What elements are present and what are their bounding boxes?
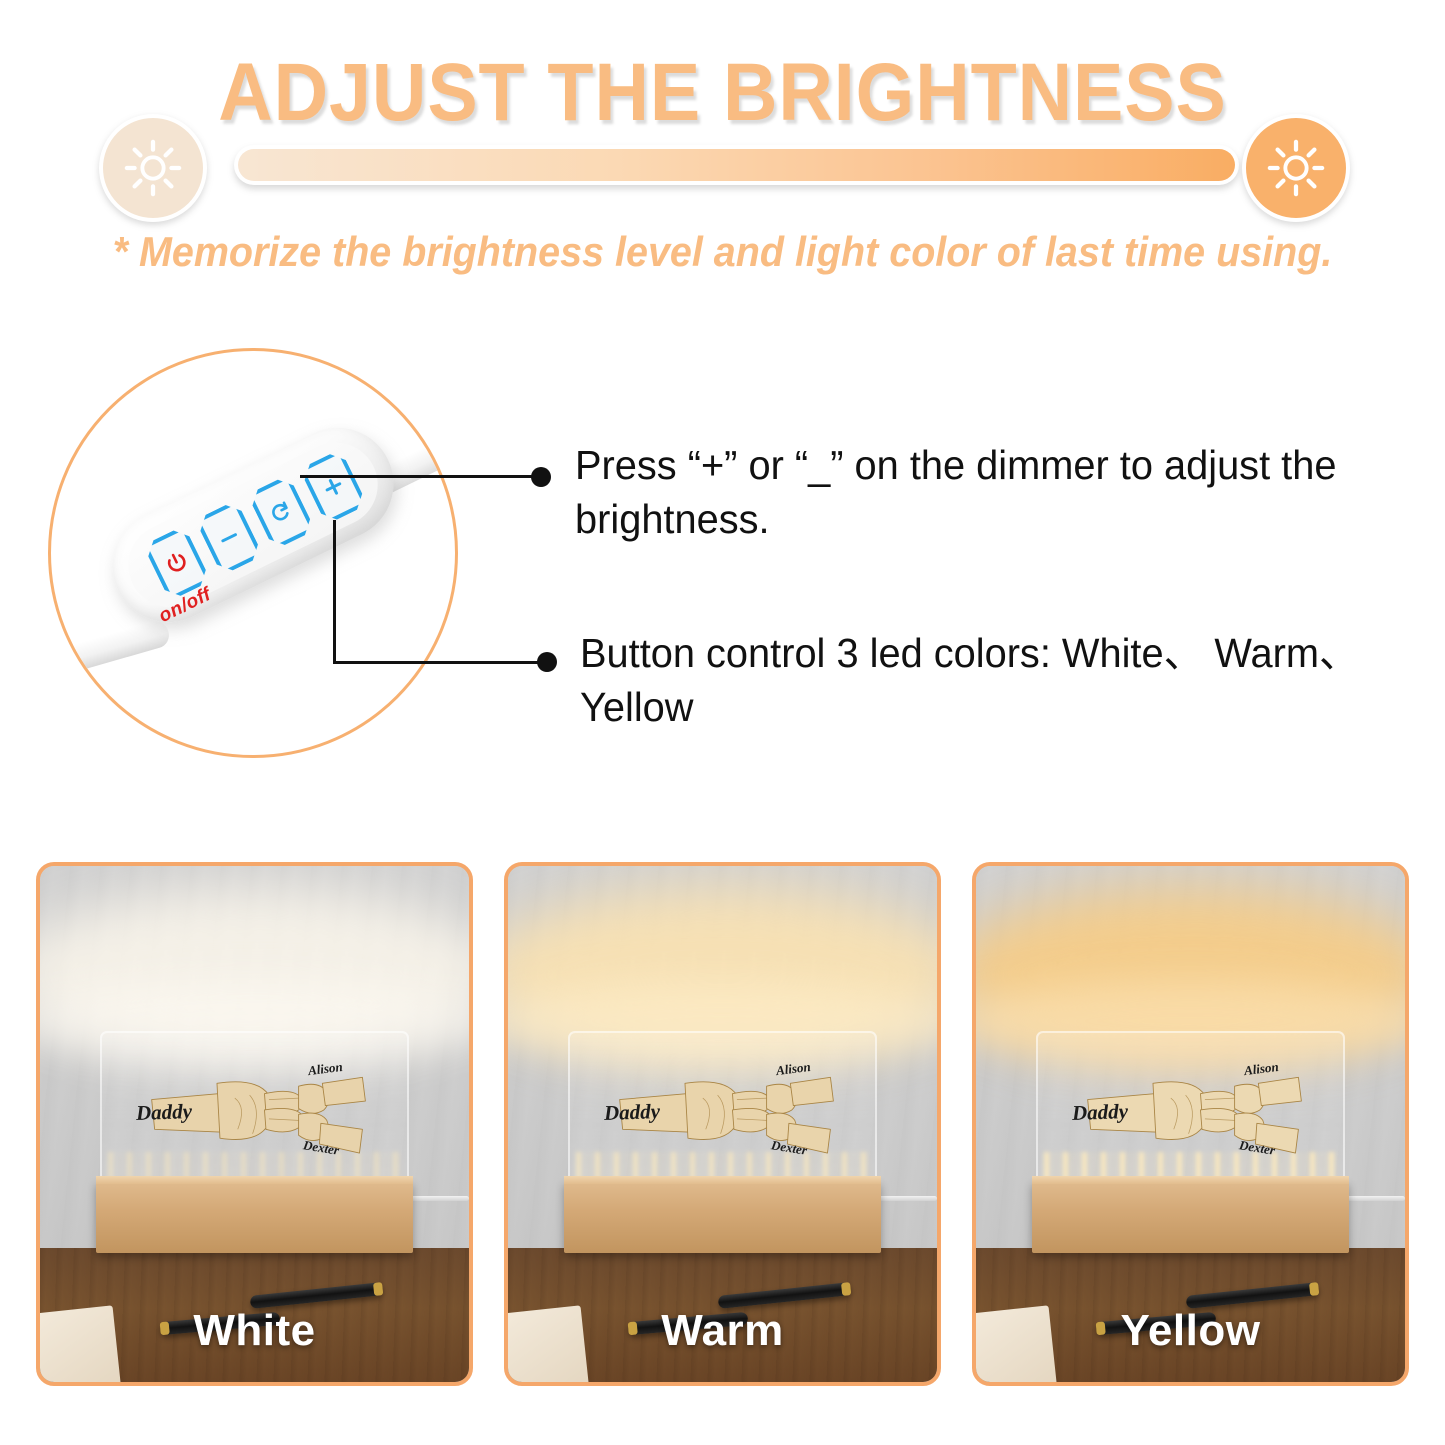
photo-card-yellow[interactable]: Daddy Alison Dexter Yellow [972,862,1409,1386]
header: ADJUST THE BRIGHTNESS [0,0,1445,300]
callout-brightness-text: Press “+” or “_” on the dimmer to adjust… [575,438,1351,546]
dimmer-controller: on/off [94,409,413,641]
power-cord [877,1196,937,1201]
dimmer-face: on/off [114,429,392,622]
color-cycle-button[interactable] [247,474,316,550]
minus-button[interactable] [195,500,264,576]
dimmer-cable-input [48,618,172,683]
power-icon [148,531,206,596]
color-mode-cards: Daddy Alison Dexter White [0,862,1445,1390]
sun-bright-icon [1242,114,1350,222]
card-label-yellow: Yellow [976,1306,1405,1356]
wooden-led-base [1032,1181,1349,1253]
brightness-slider[interactable] [234,145,1239,185]
wooden-led-base [564,1181,881,1253]
power-cord [1345,1196,1405,1201]
minus-icon [200,505,258,570]
card-label-white: White [40,1306,469,1356]
brightness-slider-fill [238,149,1235,181]
memorize-note: * Memorize the brightness level and ligh… [43,228,1401,276]
sun-dim-icon [99,114,207,222]
callout-line-brightness [300,475,536,478]
scene: Daddy Alison Dexter [40,866,469,1382]
scene: Daddy Alison Dexter [976,866,1405,1382]
wooden-base-top [564,1176,881,1184]
acrylic-panel: Daddy Alison Dexter [1036,1031,1345,1186]
plus-icon [305,454,363,519]
name-daddy: Daddy [1071,1099,1128,1126]
photo-card-white[interactable]: Daddy Alison Dexter White [36,862,473,1386]
pen-tip [373,1282,383,1296]
power-cord [409,1196,469,1201]
acrylic-panel: Daddy Alison Dexter [100,1031,409,1186]
callout-colors-text: Button control 3 led colors: White、 Warm… [580,626,1366,734]
wooden-base-top [1032,1176,1349,1184]
callout-line-colors-vertical [333,520,336,663]
dimmer-section: on/off Press “+” or “_” on the dimmer to… [0,330,1445,830]
pen-tip [1309,1282,1319,1296]
page-title: ADJUST THE BRIGHTNESS [58,46,1387,140]
wooden-base-top [96,1176,413,1184]
acrylic-panel: Daddy Alison Dexter [568,1031,877,1186]
pen-tip [841,1282,851,1296]
dimmer-photo-circle: on/off [48,348,458,758]
plus-button[interactable] [299,449,368,525]
photo-card-warm[interactable]: Daddy Alison Dexter Warm [504,862,941,1386]
card-label-warm: Warm [508,1306,937,1356]
name-daddy: Daddy [603,1099,660,1126]
cycle-arrow-icon [252,480,310,545]
scene: Daddy Alison Dexter [508,866,937,1382]
callout-dot-colors [537,652,557,672]
callout-dot-brightness [531,467,551,487]
name-daddy: Daddy [135,1099,192,1126]
wooden-led-base [96,1181,413,1253]
callout-line-colors-horizontal [333,661,546,664]
